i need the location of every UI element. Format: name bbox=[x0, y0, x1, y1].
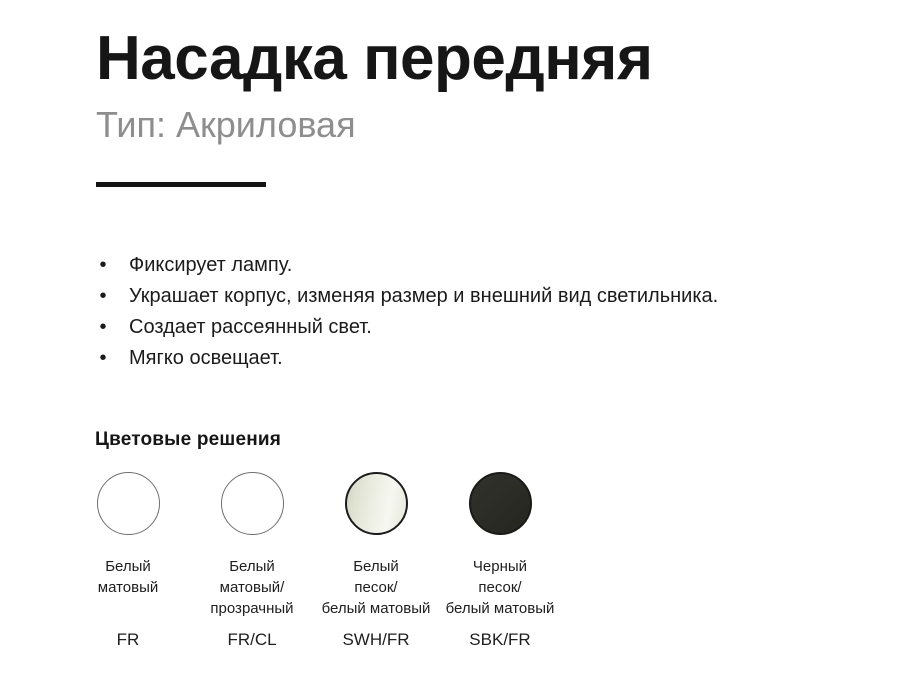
list-item: • Украшает корпус, изменяя размер и внеш… bbox=[96, 281, 876, 312]
feature-text: Фиксирует лампу. bbox=[129, 254, 292, 276]
color-code-row: FR FR/CL SWH/FR SBK/FR bbox=[66, 629, 626, 651]
white-sand-swatch[interactable] bbox=[345, 472, 408, 535]
swatch-label-line: белый матовый bbox=[446, 598, 555, 619]
color-option-swh-fr[interactable]: Белый песок/ белый матовый bbox=[314, 472, 438, 619]
color-code: FR/CL bbox=[190, 629, 314, 651]
black-sand-swatch[interactable] bbox=[469, 472, 532, 535]
color-swatch-row: Белый матовый Белый матовый/ прозрачный … bbox=[66, 472, 626, 619]
color-option-fr-cl[interactable]: Белый матовый/ прозрачный bbox=[190, 472, 314, 619]
bullet-icon: • bbox=[98, 250, 108, 281]
color-code: SWH/FR bbox=[314, 629, 438, 651]
swatch-label-line: Белый bbox=[210, 556, 293, 577]
feature-text: Мягко освещает. bbox=[129, 347, 283, 369]
swatch-label-line: матовый/ bbox=[210, 577, 293, 598]
swatch-label: Белый матовый/ прозрачный bbox=[210, 556, 293, 619]
swatch-label-line: матовый bbox=[98, 577, 159, 598]
page-subtitle: Тип: Акриловая bbox=[96, 103, 856, 146]
color-option-sbk-fr[interactable]: Черный песок/ белый матовый bbox=[438, 472, 562, 619]
page-title: Насадка передняя bbox=[96, 26, 856, 93]
product-spec-page: Насадка передняя Тип: Акриловая • Фиксир… bbox=[0, 0, 900, 700]
swatch-label: Черный песок/ белый матовый bbox=[446, 556, 555, 619]
colors-section-heading: Цветовые решения bbox=[95, 429, 281, 451]
list-item: • Фиксирует лампу. bbox=[96, 250, 876, 281]
feature-list: • Фиксирует лампу. • Украшает корпус, из… bbox=[96, 250, 876, 374]
page-header: Насадка передняя Тип: Акриловая bbox=[96, 26, 856, 146]
header-divider-rule bbox=[96, 182, 266, 187]
list-item: • Создает рассеянный свет. bbox=[96, 312, 876, 343]
bullet-icon: • bbox=[98, 343, 108, 374]
white-matte-clear-swatch[interactable] bbox=[221, 472, 284, 535]
swatch-label: Белый песок/ белый матовый bbox=[322, 556, 431, 619]
swatch-label-line: песок/ bbox=[322, 577, 431, 598]
list-item: • Мягко освещает. bbox=[96, 343, 876, 374]
swatch-label-line: Белый bbox=[322, 556, 431, 577]
swatch-label-line: прозрачный bbox=[210, 598, 293, 619]
bullet-icon: • bbox=[98, 312, 108, 343]
bullet-icon: • bbox=[98, 281, 108, 312]
color-code: FR bbox=[66, 629, 190, 651]
color-code: SBK/FR bbox=[438, 629, 562, 651]
feature-text: Украшает корпус, изменяя размер и внешни… bbox=[129, 285, 718, 307]
swatch-label: Белый матовый bbox=[98, 556, 159, 598]
swatch-label-line: песок/ bbox=[446, 577, 555, 598]
swatch-label-line: Белый bbox=[98, 556, 159, 577]
swatch-label-line: белый матовый bbox=[322, 598, 431, 619]
white-matte-swatch[interactable] bbox=[97, 472, 160, 535]
feature-text: Создает рассеянный свет. bbox=[129, 316, 372, 338]
color-option-fr[interactable]: Белый матовый bbox=[66, 472, 190, 598]
swatch-label-line: Черный bbox=[446, 556, 555, 577]
